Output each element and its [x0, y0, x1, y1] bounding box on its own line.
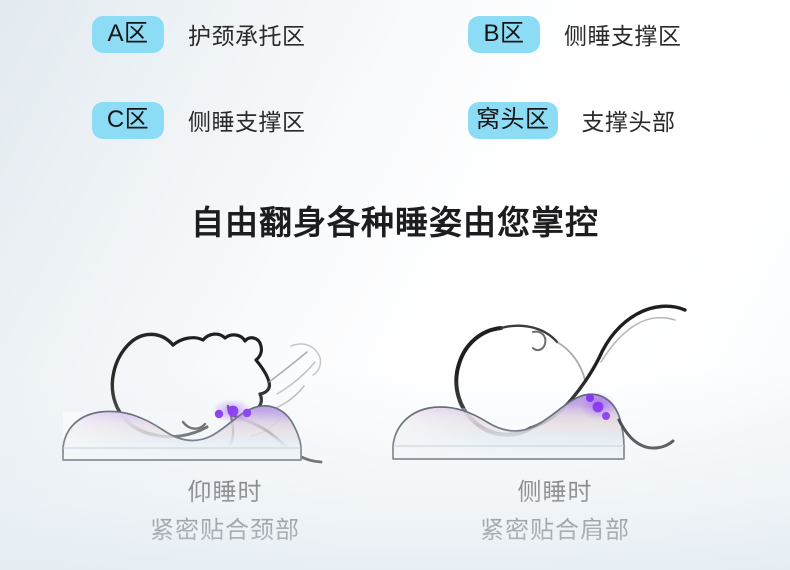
zone-legend-row: C区 侧睡支撑区 窝头区 支撑头部 — [0, 98, 790, 142]
promo-page: A区 护颈承托区 B区 侧睡支撑区 C区 侧睡支撑区 窝头区 支撑头部 自由翻身… — [0, 0, 790, 570]
zone-legend-item-b: B区 侧睡支撑区 — [468, 12, 682, 56]
caption-supine-line2: 紧密贴合颈部 — [55, 512, 395, 550]
contact-dot — [243, 409, 251, 417]
contact-dot — [586, 394, 594, 402]
zone-legend-row: A区 护颈承托区 B区 侧睡支撑区 — [0, 12, 790, 56]
caption-row: 仰睡时 紧密贴合颈部 侧睡时 紧密贴合肩部 — [0, 474, 790, 564]
page-headline: 自由翻身各种睡姿由您掌控 — [0, 203, 790, 243]
zone-badge-b: B区 — [468, 16, 540, 53]
contact-dot — [593, 402, 604, 413]
zone-description-head-nest: 支撑头部 — [582, 103, 676, 137]
zone-legend-item-a: A区 护颈承托区 — [92, 12, 306, 56]
side-sleeping-illustration — [385, 288, 725, 488]
contact-dots — [212, 399, 252, 423]
contact-dot — [602, 412, 610, 420]
zone-badge-c: C区 — [92, 102, 164, 139]
pillow-shape — [63, 406, 301, 461]
caption-side: 侧睡时 紧密贴合肩部 — [385, 474, 725, 550]
zone-badge-a: A区 — [92, 16, 164, 53]
arm-outline — [619, 420, 673, 448]
supine-sleeping-illustration — [55, 288, 395, 488]
zone-description-b: 侧睡支撑区 — [564, 17, 682, 51]
contact-dot — [228, 406, 239, 417]
zone-legend-item-head-nest: 窝头区 支撑头部 — [468, 98, 676, 142]
contact-dot — [215, 410, 223, 418]
caption-supine-line1: 仰睡时 — [188, 479, 263, 506]
caption-side-line1: 侧睡时 — [518, 479, 593, 506]
caption-supine: 仰睡时 紧密贴合颈部 — [55, 474, 395, 550]
illustration-row — [0, 288, 790, 488]
zone-badge-head-nest: 窝头区 — [468, 102, 558, 139]
zone-description-a: 护颈承托区 — [188, 17, 306, 51]
zone-legend-item-c: C区 侧睡支撑区 — [92, 98, 306, 142]
contact-dots — [580, 392, 616, 420]
zone-description-c: 侧睡支撑区 — [188, 103, 306, 137]
caption-side-line2: 紧密贴合肩部 — [385, 512, 725, 550]
